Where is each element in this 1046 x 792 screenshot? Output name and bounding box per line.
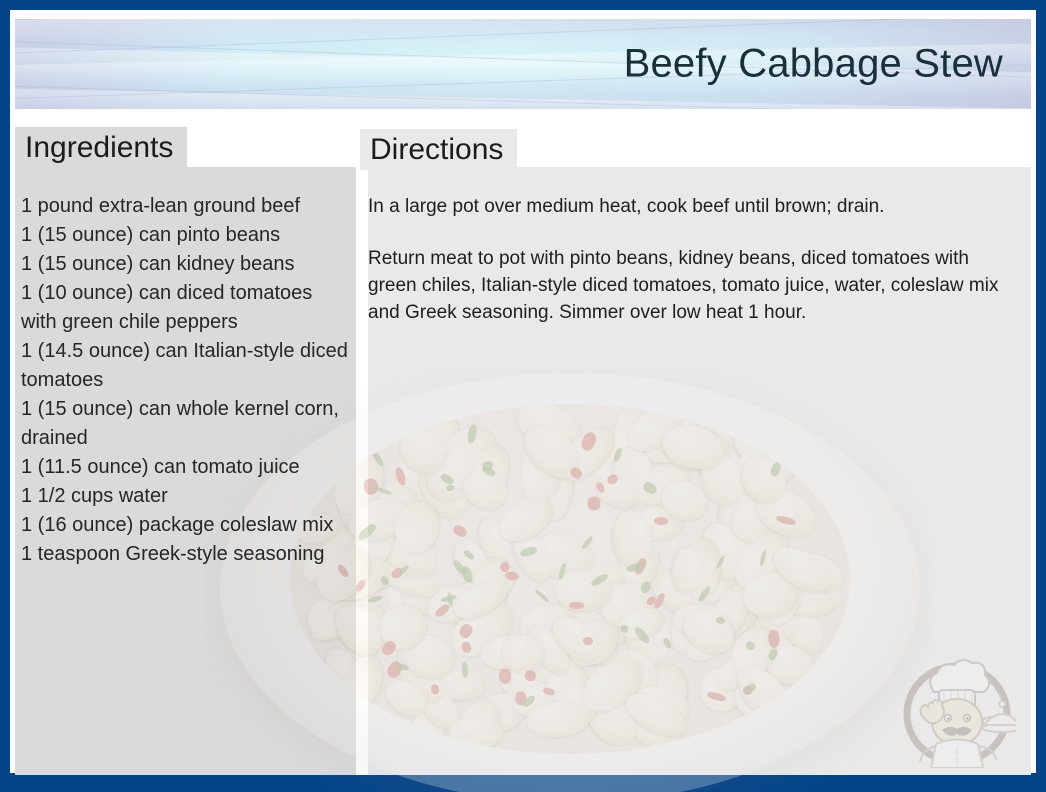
directions-text: In a large pot over medium heat, cook be… <box>368 193 1018 326</box>
ingredient-item: 1 pound extra-lean ground beef <box>21 192 351 221</box>
ingredient-item: 1 (16 ounce) package coleslaw mix <box>21 511 351 540</box>
recipe-card-page: Beefy Cabbage Stew Ingredients Direction… <box>0 0 1046 792</box>
ingredient-item: 1 (11.5 ounce) can tomato juice <box>21 453 351 482</box>
ingredient-item: 1 (15 ounce) can pinto beans <box>21 221 351 250</box>
direction-step: Return meat to pot with pinto beans, kid… <box>368 245 1018 326</box>
ingredient-item: 1 (14.5 ounce) can Italian-style diced t… <box>21 337 351 395</box>
header-banner: Beefy Cabbage Stew <box>15 19 1031 109</box>
direction-step: In a large pot over medium heat, cook be… <box>368 193 1018 220</box>
panel-divider <box>356 167 368 775</box>
ingredient-item: 1 (10 ounce) can diced tomatoes with gre… <box>21 279 351 337</box>
ingredient-item: 1 teaspoon Greek-style seasoning <box>21 540 351 569</box>
ingredients-heading: Ingredients <box>15 127 187 168</box>
directions-heading: Directions <box>360 129 517 170</box>
ingredients-list: 1 pound extra-lean ground beef1 (15 ounc… <box>21 192 351 569</box>
ingredient-item: 1 (15 ounce) can whole kernel corn, drai… <box>21 395 351 453</box>
recipe-title: Beefy Cabbage Stew <box>624 42 1003 87</box>
ingredient-item: 1 (15 ounce) can kidney beans <box>21 250 351 279</box>
ingredient-item: 1 1/2 cups water <box>21 482 351 511</box>
